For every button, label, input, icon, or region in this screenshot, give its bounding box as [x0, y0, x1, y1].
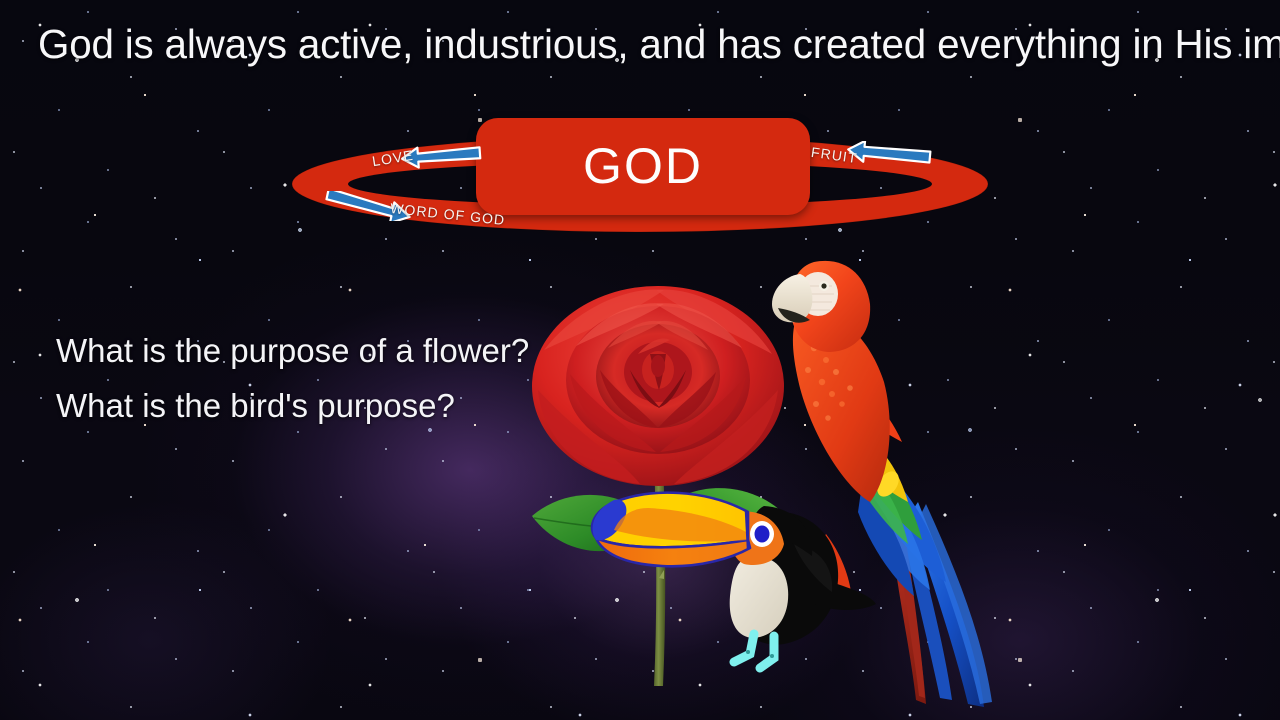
- rose-bloom: [532, 286, 784, 486]
- toucan-image: [588, 482, 878, 682]
- toucan-illustration: [588, 482, 878, 682]
- god-center-box: GOD: [476, 118, 810, 215]
- toucan-beak: [592, 493, 750, 567]
- presentation-slide: God is always active, industrious, and h…: [0, 0, 1280, 720]
- question-list: What is the purpose of a flower? What is…: [56, 323, 529, 433]
- question-flower: What is the purpose of a flower?: [56, 323, 529, 378]
- slide-title: God is always active, industrious, and h…: [38, 20, 1230, 68]
- left-arrow-icon-fruit: [846, 141, 932, 167]
- god-cycle-diagram: GOD LOVE FRUIT WORD OF GOD: [290, 105, 990, 240]
- question-bird: What is the bird's purpose?: [56, 378, 529, 433]
- god-box-label: GOD: [476, 136, 810, 194]
- toucan-eye: [755, 526, 770, 543]
